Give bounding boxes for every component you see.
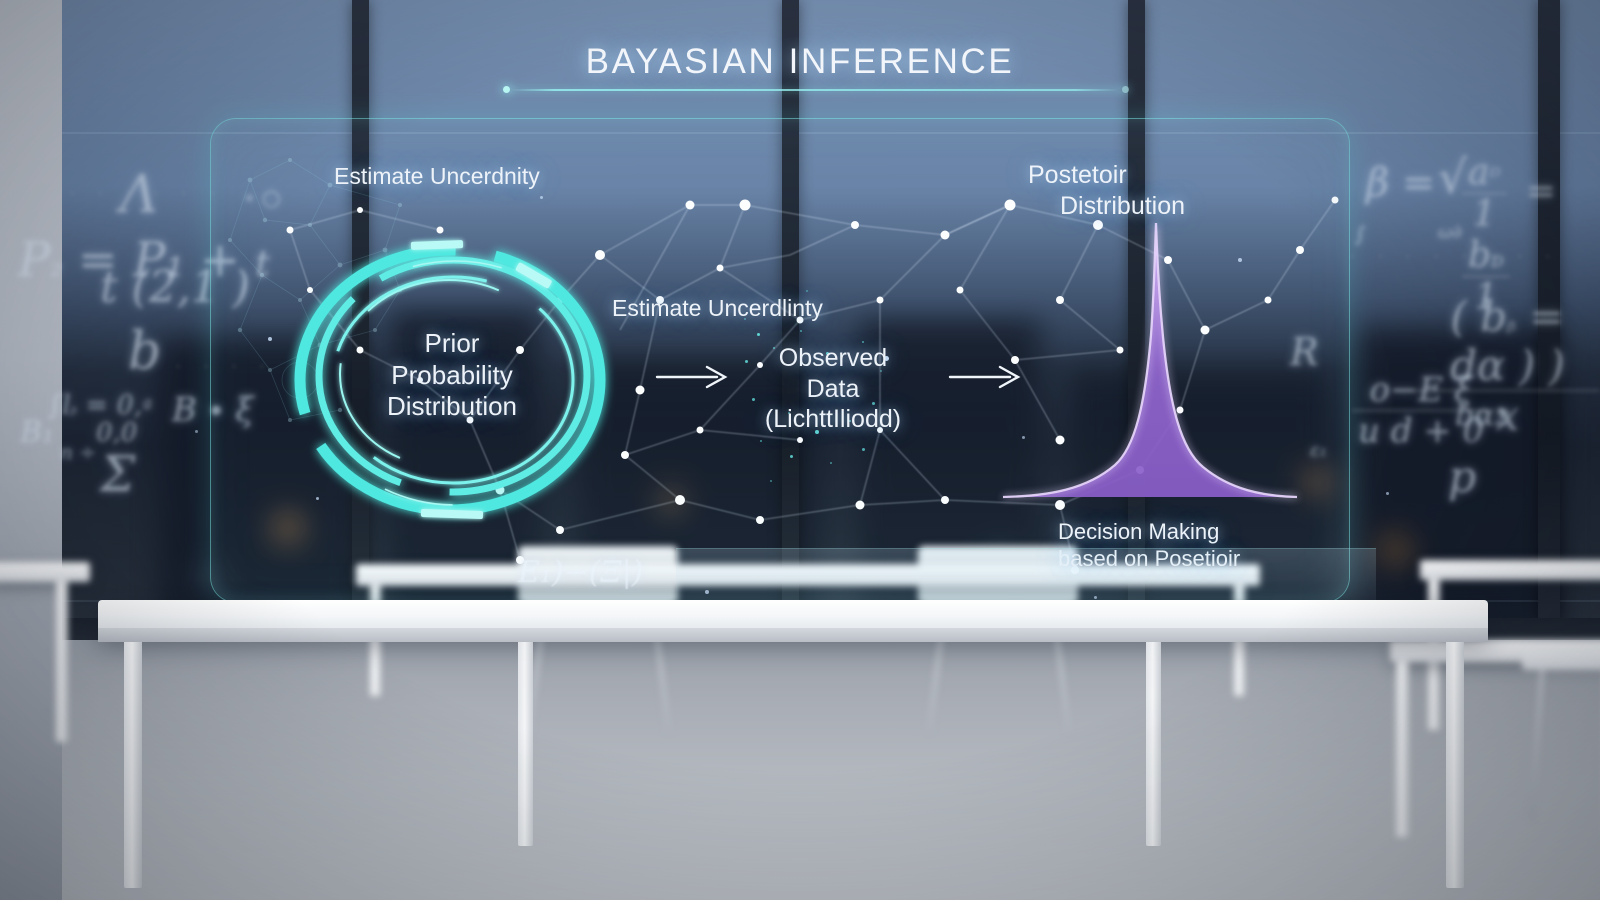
posterior-curve-graphic <box>995 215 1305 510</box>
stage-label-prior: Prior Probability Distribution <box>352 328 552 423</box>
page-title: BAYASIAN INFERENCE <box>0 42 1600 82</box>
screenshot-root: Λ · · · · · · P₂ = P₁ + t t (2,1 ) b · ·… <box>0 0 1600 900</box>
annotation-estimate-uncertainty-top: Estimate Uncerdnity <box>334 162 540 190</box>
annotation-estimate-uncertainty-mid: Estimate Uncerdlinty <box>612 294 823 322</box>
floor <box>0 640 1600 900</box>
prior-line-1: Prior <box>352 328 552 360</box>
posterior-line-2: Distribution <box>1028 191 1268 222</box>
observed-line-3: (LichttIliodd) <box>733 404 933 435</box>
front-table-apron <box>98 628 1488 642</box>
posterior-line-1: Postetoir <box>1028 160 1268 191</box>
observed-line-1: Observed <box>733 343 933 374</box>
observed-line-2: Data <box>733 374 933 405</box>
prior-line-2: Probability <box>352 360 552 392</box>
stage-label-posterior: Postetoir Distribution <box>1028 160 1268 221</box>
decision-line-1: Decision Making <box>1058 519 1240 546</box>
left-interior-wall <box>0 0 62 900</box>
foreground-glass-panel <box>676 548 1376 604</box>
arrow-prior-to-data <box>655 362 733 397</box>
window-mullion <box>1538 0 1560 620</box>
prior-line-3: Distribution <box>352 391 552 423</box>
stage-label-observed-data: Observed Data (LichttIliodd) <box>733 343 933 435</box>
title-underline-dot-left <box>503 86 510 93</box>
title-underline-dot-right <box>1122 86 1129 93</box>
title-underline <box>505 89 1125 91</box>
